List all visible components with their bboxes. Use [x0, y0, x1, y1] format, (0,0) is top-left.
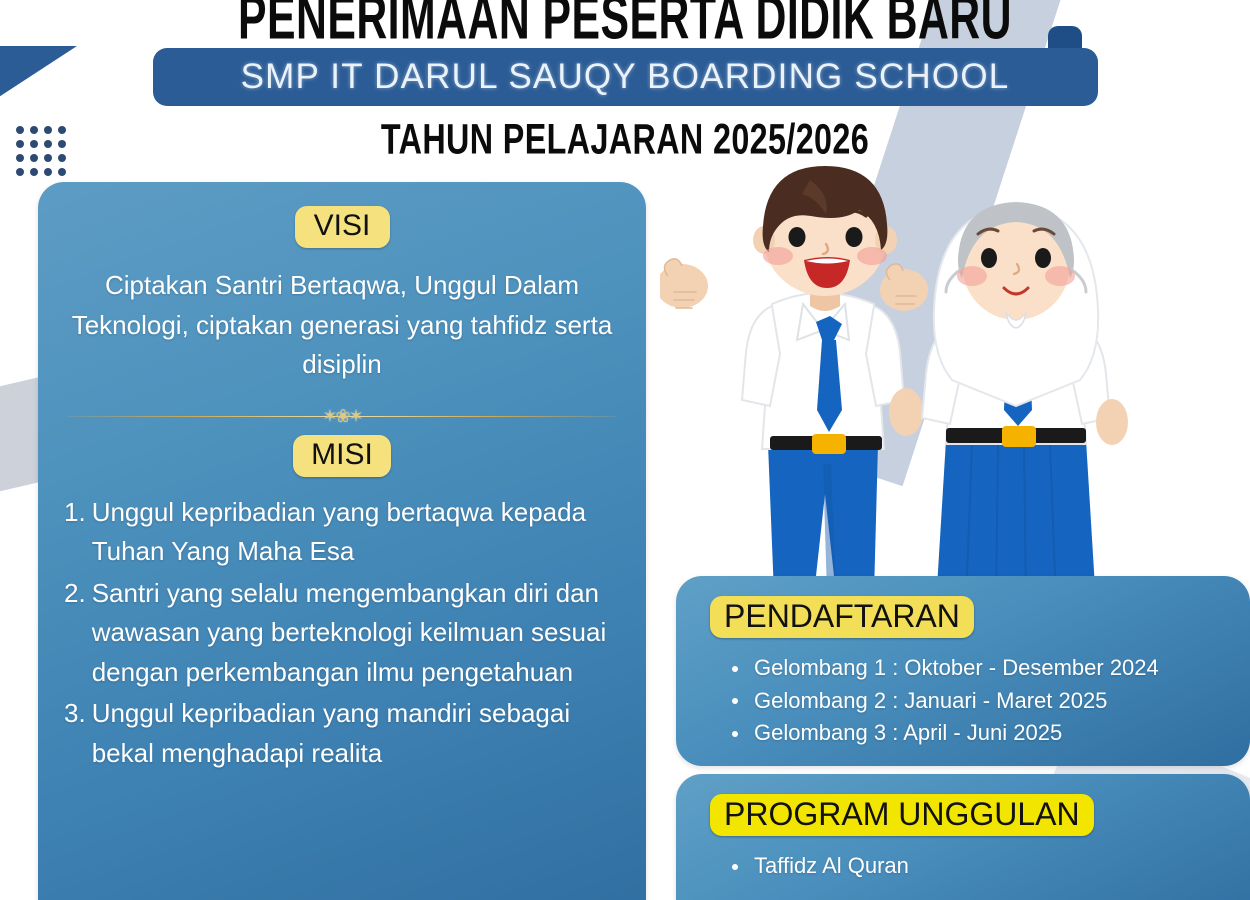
- list-item: 1. Unggul kepribadian yang bertaqwa kepa…: [64, 493, 624, 572]
- girl-right-hand: [1096, 399, 1128, 445]
- visi-misi-card: VISI Ciptakan Santri Bertaqwa, Unggul Da…: [38, 182, 646, 900]
- ornamental-divider: ✶❀✶: [68, 407, 616, 425]
- girl-left-hand: [880, 264, 928, 311]
- list-item: Gelombang 3 : April - Juni 2025: [730, 717, 1230, 750]
- program-unggulan-badge: PROGRAM UNGGULAN: [710, 794, 1094, 836]
- misi-number: 1.: [64, 493, 86, 572]
- pendaftaran-list: Gelombang 1 : Oktober - Desember 2024 Ge…: [730, 652, 1230, 750]
- misi-number: 2.: [64, 574, 86, 693]
- school-name-banner: SMP IT DARUL SAUQY BOARDING SCHOOL: [153, 48, 1098, 106]
- list-item: Gelombang 1 : Oktober - Desember 2024: [730, 652, 1230, 685]
- academic-year-title: TAHUN PELAJARAN 2025/2026: [31, 116, 1219, 165]
- program-unggulan-list: Taffidz Al Quran: [730, 850, 1230, 883]
- boy-left-hand: [660, 259, 708, 308]
- misi-text: Unggul kepribadian yang bertaqwa kepada …: [92, 493, 624, 572]
- misi-text: Unggul kepribadian yang mandiri sebagai …: [92, 694, 624, 773]
- boy-right-hand: [889, 388, 923, 436]
- list-item: 2. Santri yang selalu mengembangkan diri…: [64, 574, 624, 693]
- list-item: 3. Unggul kepribadian yang mandiri sebag…: [64, 694, 624, 773]
- pendaftaran-card: PENDAFTARAN Gelombang 1 : Oktober - Dese…: [676, 576, 1250, 766]
- program-unggulan-card: PROGRAM UNGGULAN Taffidz Al Quran: [676, 774, 1250, 900]
- students-illustration: [660, 164, 1180, 614]
- list-item: Gelombang 2 : Januari - Maret 2025: [730, 685, 1230, 718]
- boy-student: [660, 166, 923, 594]
- pendaftaran-badge: PENDAFTARAN: [710, 596, 974, 638]
- misi-badge: MISI: [293, 435, 391, 477]
- misi-list: 1. Unggul kepribadian yang bertaqwa kepa…: [64, 493, 624, 774]
- school-name-text: SMP IT DARUL SAUQY BOARDING SCHOOL: [241, 57, 1010, 97]
- poster-header: PENERIMAAN PESERTA DIDIK BARU SMP IT DAR…: [0, 0, 1250, 155]
- list-item: Taffidz Al Quran: [730, 850, 1230, 883]
- divider-ornament-icon: ✶❀✶: [322, 407, 361, 425]
- page-title: PENERIMAAN PESERTA DIDIK BARU: [44, 0, 1207, 48]
- visi-text: Ciptakan Santri Bertaqwa, Unggul Dalam T…: [60, 266, 624, 385]
- misi-number: 3.: [64, 694, 86, 773]
- misi-text: Santri yang selalu mengembangkan diri da…: [92, 574, 624, 693]
- visi-badge: VISI: [295, 206, 390, 248]
